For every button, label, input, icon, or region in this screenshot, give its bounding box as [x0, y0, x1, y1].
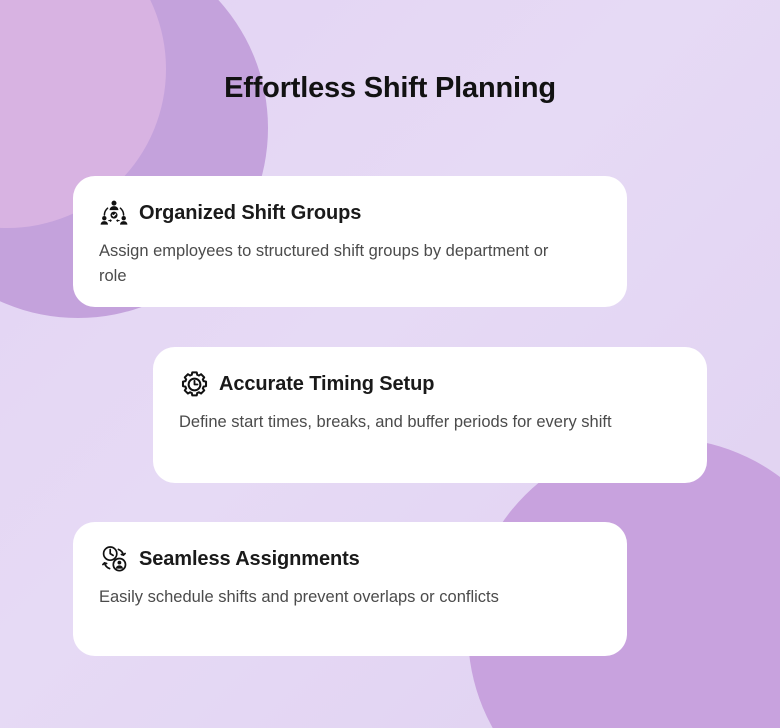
feature-card-description: Assign employees to structured shift gro…: [99, 239, 569, 289]
feature-card-title: Seamless Assignments: [139, 548, 360, 570]
team-group-network-icon: [99, 198, 129, 228]
feature-list-page: Effortless Shift Planning: [0, 0, 780, 728]
feature-card-header: Seamless Assignments: [99, 544, 601, 574]
page-title: Effortless Shift Planning: [0, 72, 780, 105]
clock-rotate-person-icon: [99, 544, 129, 574]
feature-card-accurate-timing-setup[interactable]: Accurate Timing Setup Define start times…: [153, 347, 707, 483]
feature-card-description: Define start times, breaks, and buffer p…: [179, 410, 649, 435]
feature-card-description: Easily schedule shifts and prevent overl…: [99, 585, 569, 610]
feature-card-title: Accurate Timing Setup: [219, 373, 434, 395]
feature-card-organized-shift-groups[interactable]: Organized Shift Groups Assign employees …: [73, 176, 627, 307]
feature-card-title: Organized Shift Groups: [139, 202, 361, 224]
feature-card-header: Organized Shift Groups: [99, 198, 601, 228]
feature-card-header: Accurate Timing Setup: [179, 369, 681, 399]
gear-clock-icon: [179, 369, 209, 399]
feature-card-seamless-assignments[interactable]: Seamless Assignments Easily schedule shi…: [73, 522, 627, 656]
